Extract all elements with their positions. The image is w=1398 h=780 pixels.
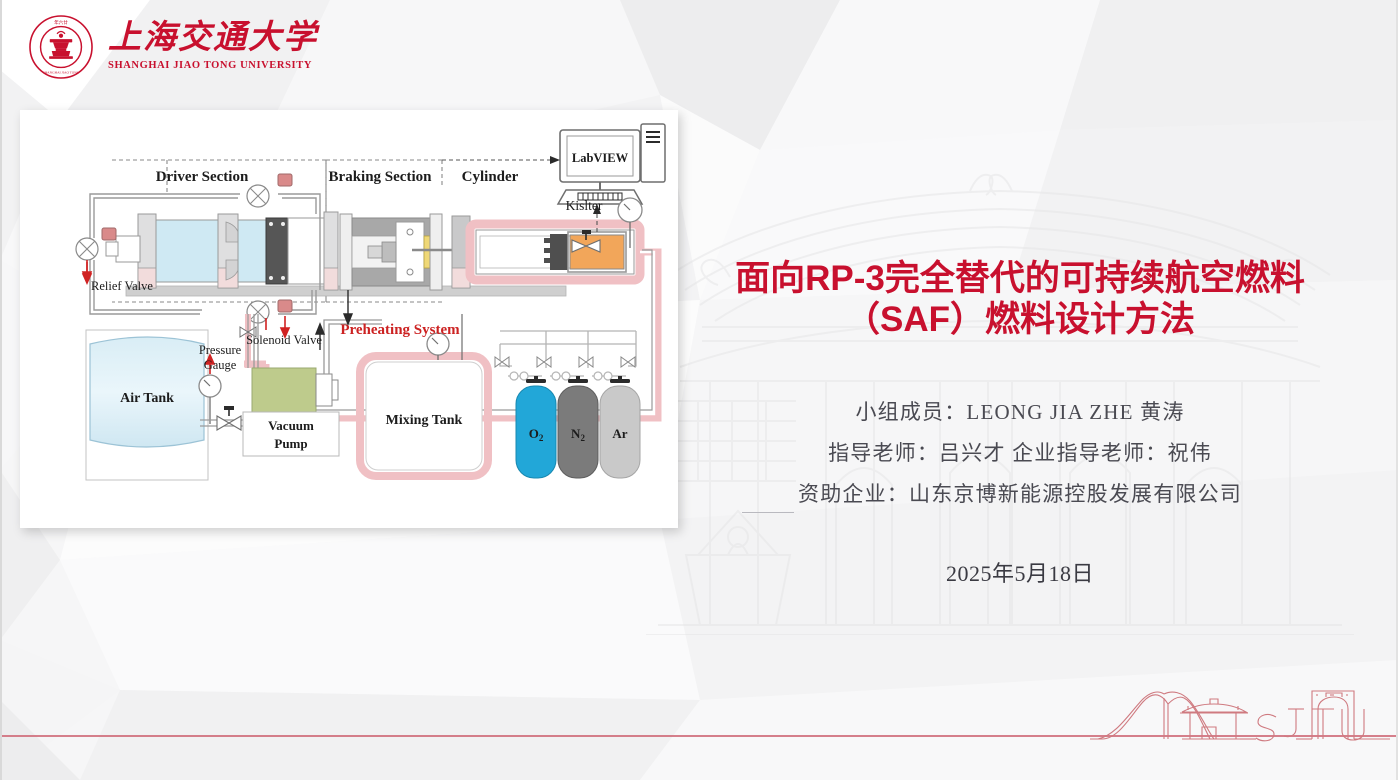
slide-left-edge [0,0,2,780]
svg-text:Cylinder: Cylinder [462,169,519,185]
svg-text:Solenoid Valve: Solenoid Valve [246,333,322,347]
svg-text:Pressure: Pressure [199,343,242,357]
svg-text:Mixing Tank: Mixing Tank [386,413,463,428]
sjtu-campus-skyline-icon [1090,665,1390,770]
sjtu-seal-icon: 年六廿 SHANGHAI JIAO TONG [28,14,94,80]
meta-divider-dash [742,512,794,513]
svg-text:SHANGHAI JIAO TONG: SHANGHAI JIAO TONG [43,70,80,74]
svg-text:Relief Valve: Relief Valve [91,279,153,293]
presenter-meta: 小组成员：LEONG JIA ZHE 黄涛 指导老师：吕兴才 企业指导老师：祝伟… [660,392,1380,515]
schematic-diagram: LabVIEW [30,118,668,518]
svg-text:年六廿: 年六廿 [54,19,68,26]
svg-text:LabVIEW: LabVIEW [572,151,629,165]
sjtu-logo: 年六廿 SHANGHAI JIAO TONG 上海交通大学 SHANGHAI J… [28,14,318,80]
svg-text:Driver Section: Driver Section [156,169,249,185]
figure-frame[interactable]: LabVIEW [20,110,678,528]
svg-text:Kislter: Kislter [566,198,603,213]
svg-text:Vacuum: Vacuum [268,418,314,433]
presentation-title-slide: 年六廿 SHANGHAI JIAO TONG 上海交通大学 SHANGHAI J… [0,0,1398,780]
logo-chinese-name: 上海交通大学 [108,22,318,55]
presentation-date: 2025年5月18日 [660,556,1380,588]
meta-sponsor: 资助企业：山东京博新能源控股发展有限公司 [660,474,1380,515]
svg-text:Ar: Ar [612,426,627,441]
title-line-1: 面向RP-3完全替代的可持续航空燃料 [660,258,1380,299]
title-line-2: （SAF）燃料设计方法 [660,299,1380,340]
svg-text:Braking Section: Braking Section [329,169,433,185]
page-title: 面向RP-3完全替代的可持续航空燃料 （SAF）燃料设计方法 [660,258,1380,341]
meta-team-members: 小组成员：LEONG JIA ZHE 黄涛 [660,392,1380,433]
svg-text:Pump: Pump [274,436,307,451]
svg-text:Gauge: Gauge [204,358,237,372]
svg-text:Preheating System: Preheating System [340,322,460,338]
svg-text:Air Tank: Air Tank [120,391,174,406]
logo-english-name: SHANGHAI JIAO TONG UNIVERSITY [108,61,318,72]
meta-advisors: 指导老师：吕兴才 企业指导老师：祝伟 [660,433,1380,474]
